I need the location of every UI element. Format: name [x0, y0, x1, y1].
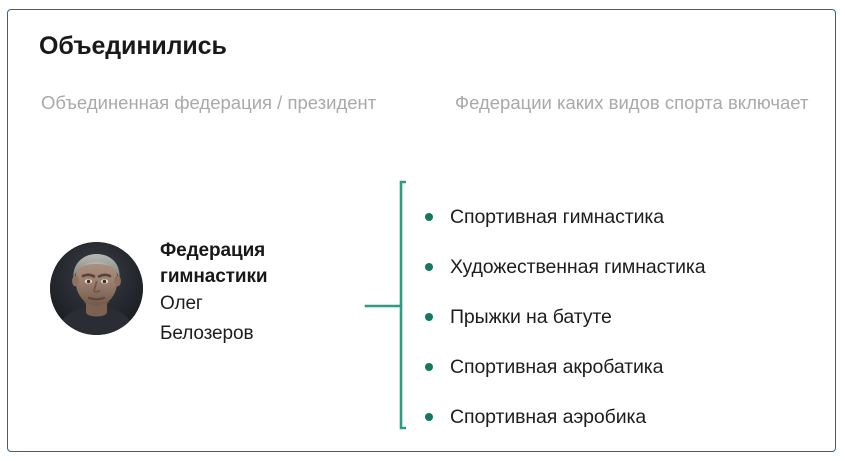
- list-item: Художественная гимнастика: [420, 242, 706, 292]
- list-item: Спортивная акробатика: [420, 342, 706, 392]
- bullet-icon: [425, 363, 433, 371]
- bullet-icon: [425, 413, 433, 421]
- list-item-label: Спортивная аэробика: [450, 406, 646, 428]
- page-title: Объединились: [39, 33, 227, 61]
- list-item: Спортивная аэробика: [420, 392, 706, 442]
- federation-name-line2: гимнастики: [160, 264, 360, 290]
- bullet-icon: [425, 213, 433, 221]
- column-header-sports: Федерации каких видов спорта включает: [455, 90, 825, 115]
- list-item: Прыжки на батуте: [420, 292, 706, 342]
- slide-canvas: Объединились Объединенная федерация / пр…: [0, 0, 845, 461]
- president-firstname: Олег: [160, 289, 360, 319]
- column-header-federation: Объединенная федерация / президент: [41, 90, 431, 115]
- list-item-label: Спортивная гимнастика: [450, 206, 664, 228]
- sports-list: Спортивная гимнастика Художественная гим…: [420, 192, 706, 442]
- federation-labels: Федерация гимнастики Олег Белозеров: [160, 238, 360, 349]
- list-item-label: Спортивная акробатика: [450, 356, 663, 378]
- avatar: [50, 242, 143, 335]
- president-lastname: Белозеров: [160, 319, 360, 349]
- bullet-icon: [425, 263, 433, 271]
- info-card: Объединились Объединенная федерация / пр…: [7, 9, 836, 452]
- list-item: Спортивная гимнастика: [420, 192, 706, 242]
- list-item-label: Художественная гимнастика: [450, 256, 706, 278]
- bracket-connector-icon: [364, 180, 406, 430]
- federation-name-line1: Федерация: [160, 238, 360, 264]
- bullet-icon: [425, 313, 433, 321]
- list-item-label: Прыжки на батуте: [450, 306, 612, 328]
